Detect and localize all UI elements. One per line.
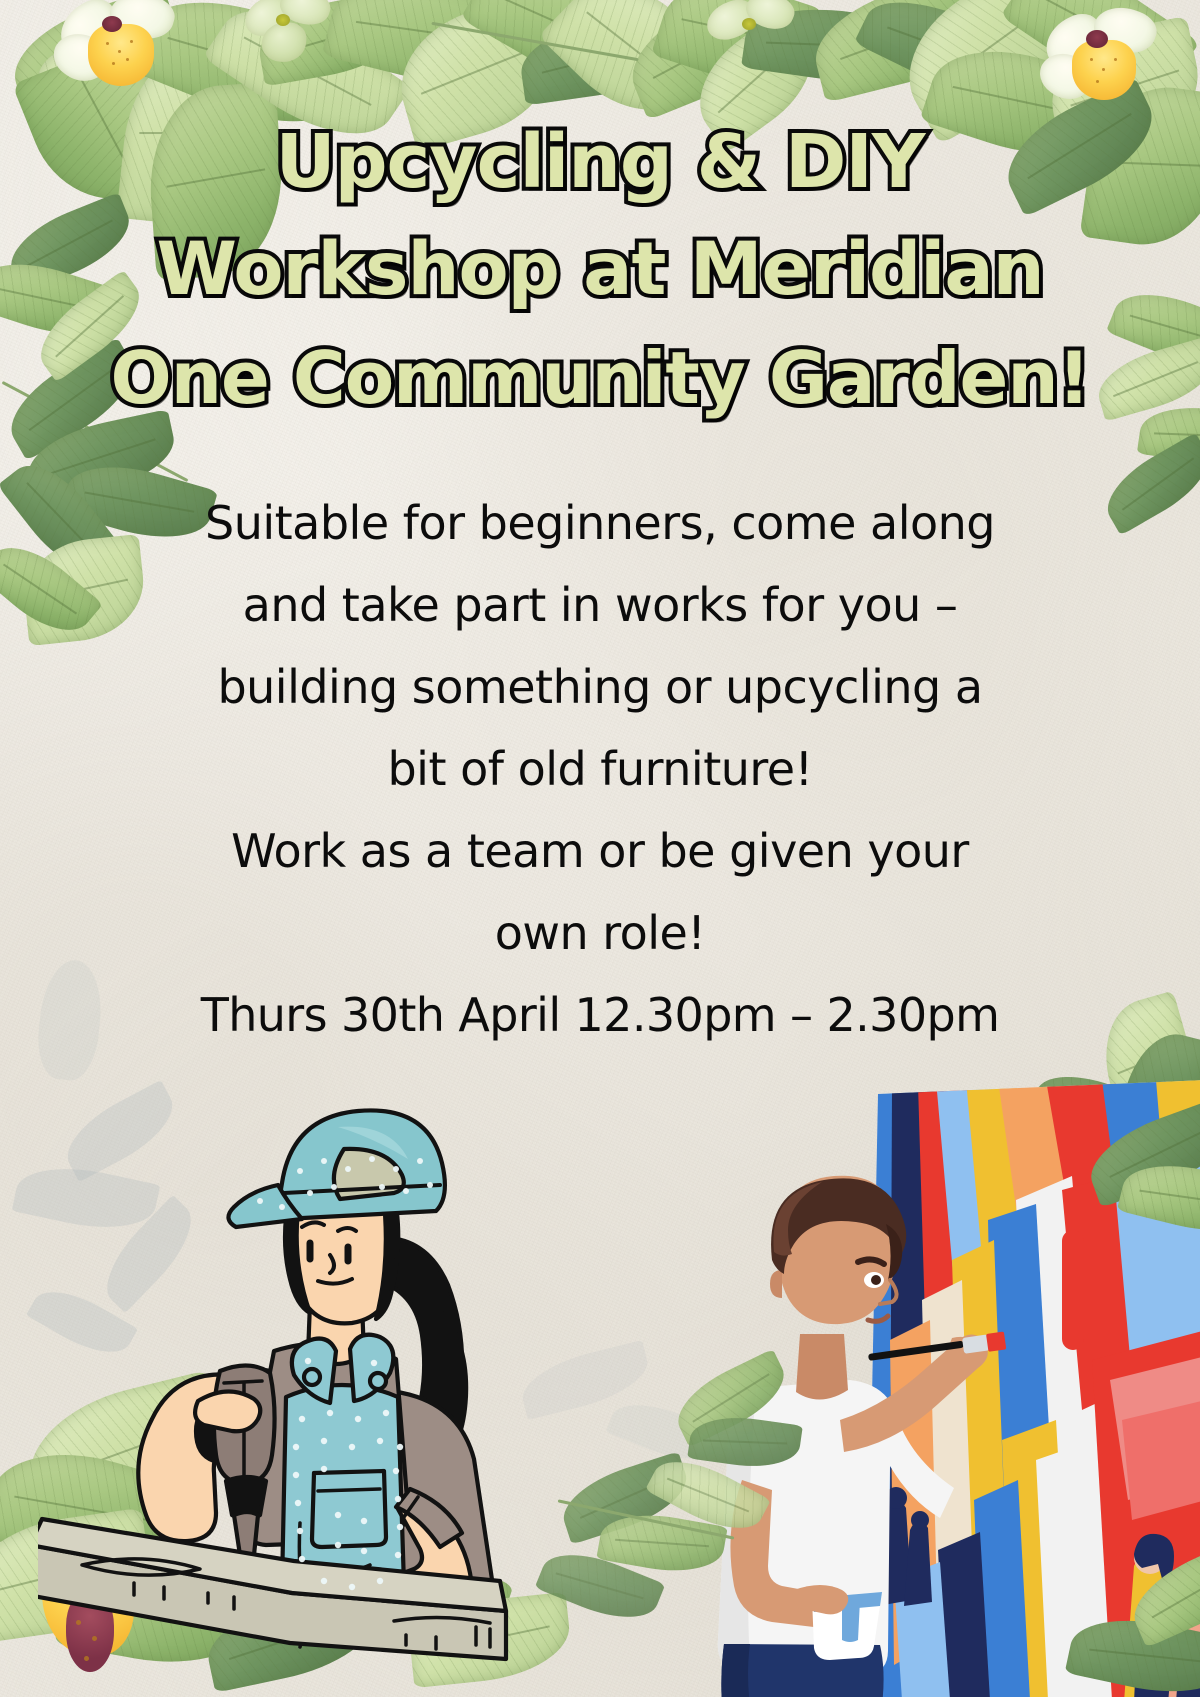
illustration-woman-with-drill — [38, 1075, 558, 1697]
orchid-flower — [1030, 6, 1190, 136]
poster-canvas: Upcycling & DIY Workshop at Meridian One… — [0, 0, 1200, 1697]
green-flower-bud — [236, 0, 356, 84]
green-flower-bud — [700, 0, 820, 90]
orchid-flower — [48, 0, 208, 120]
